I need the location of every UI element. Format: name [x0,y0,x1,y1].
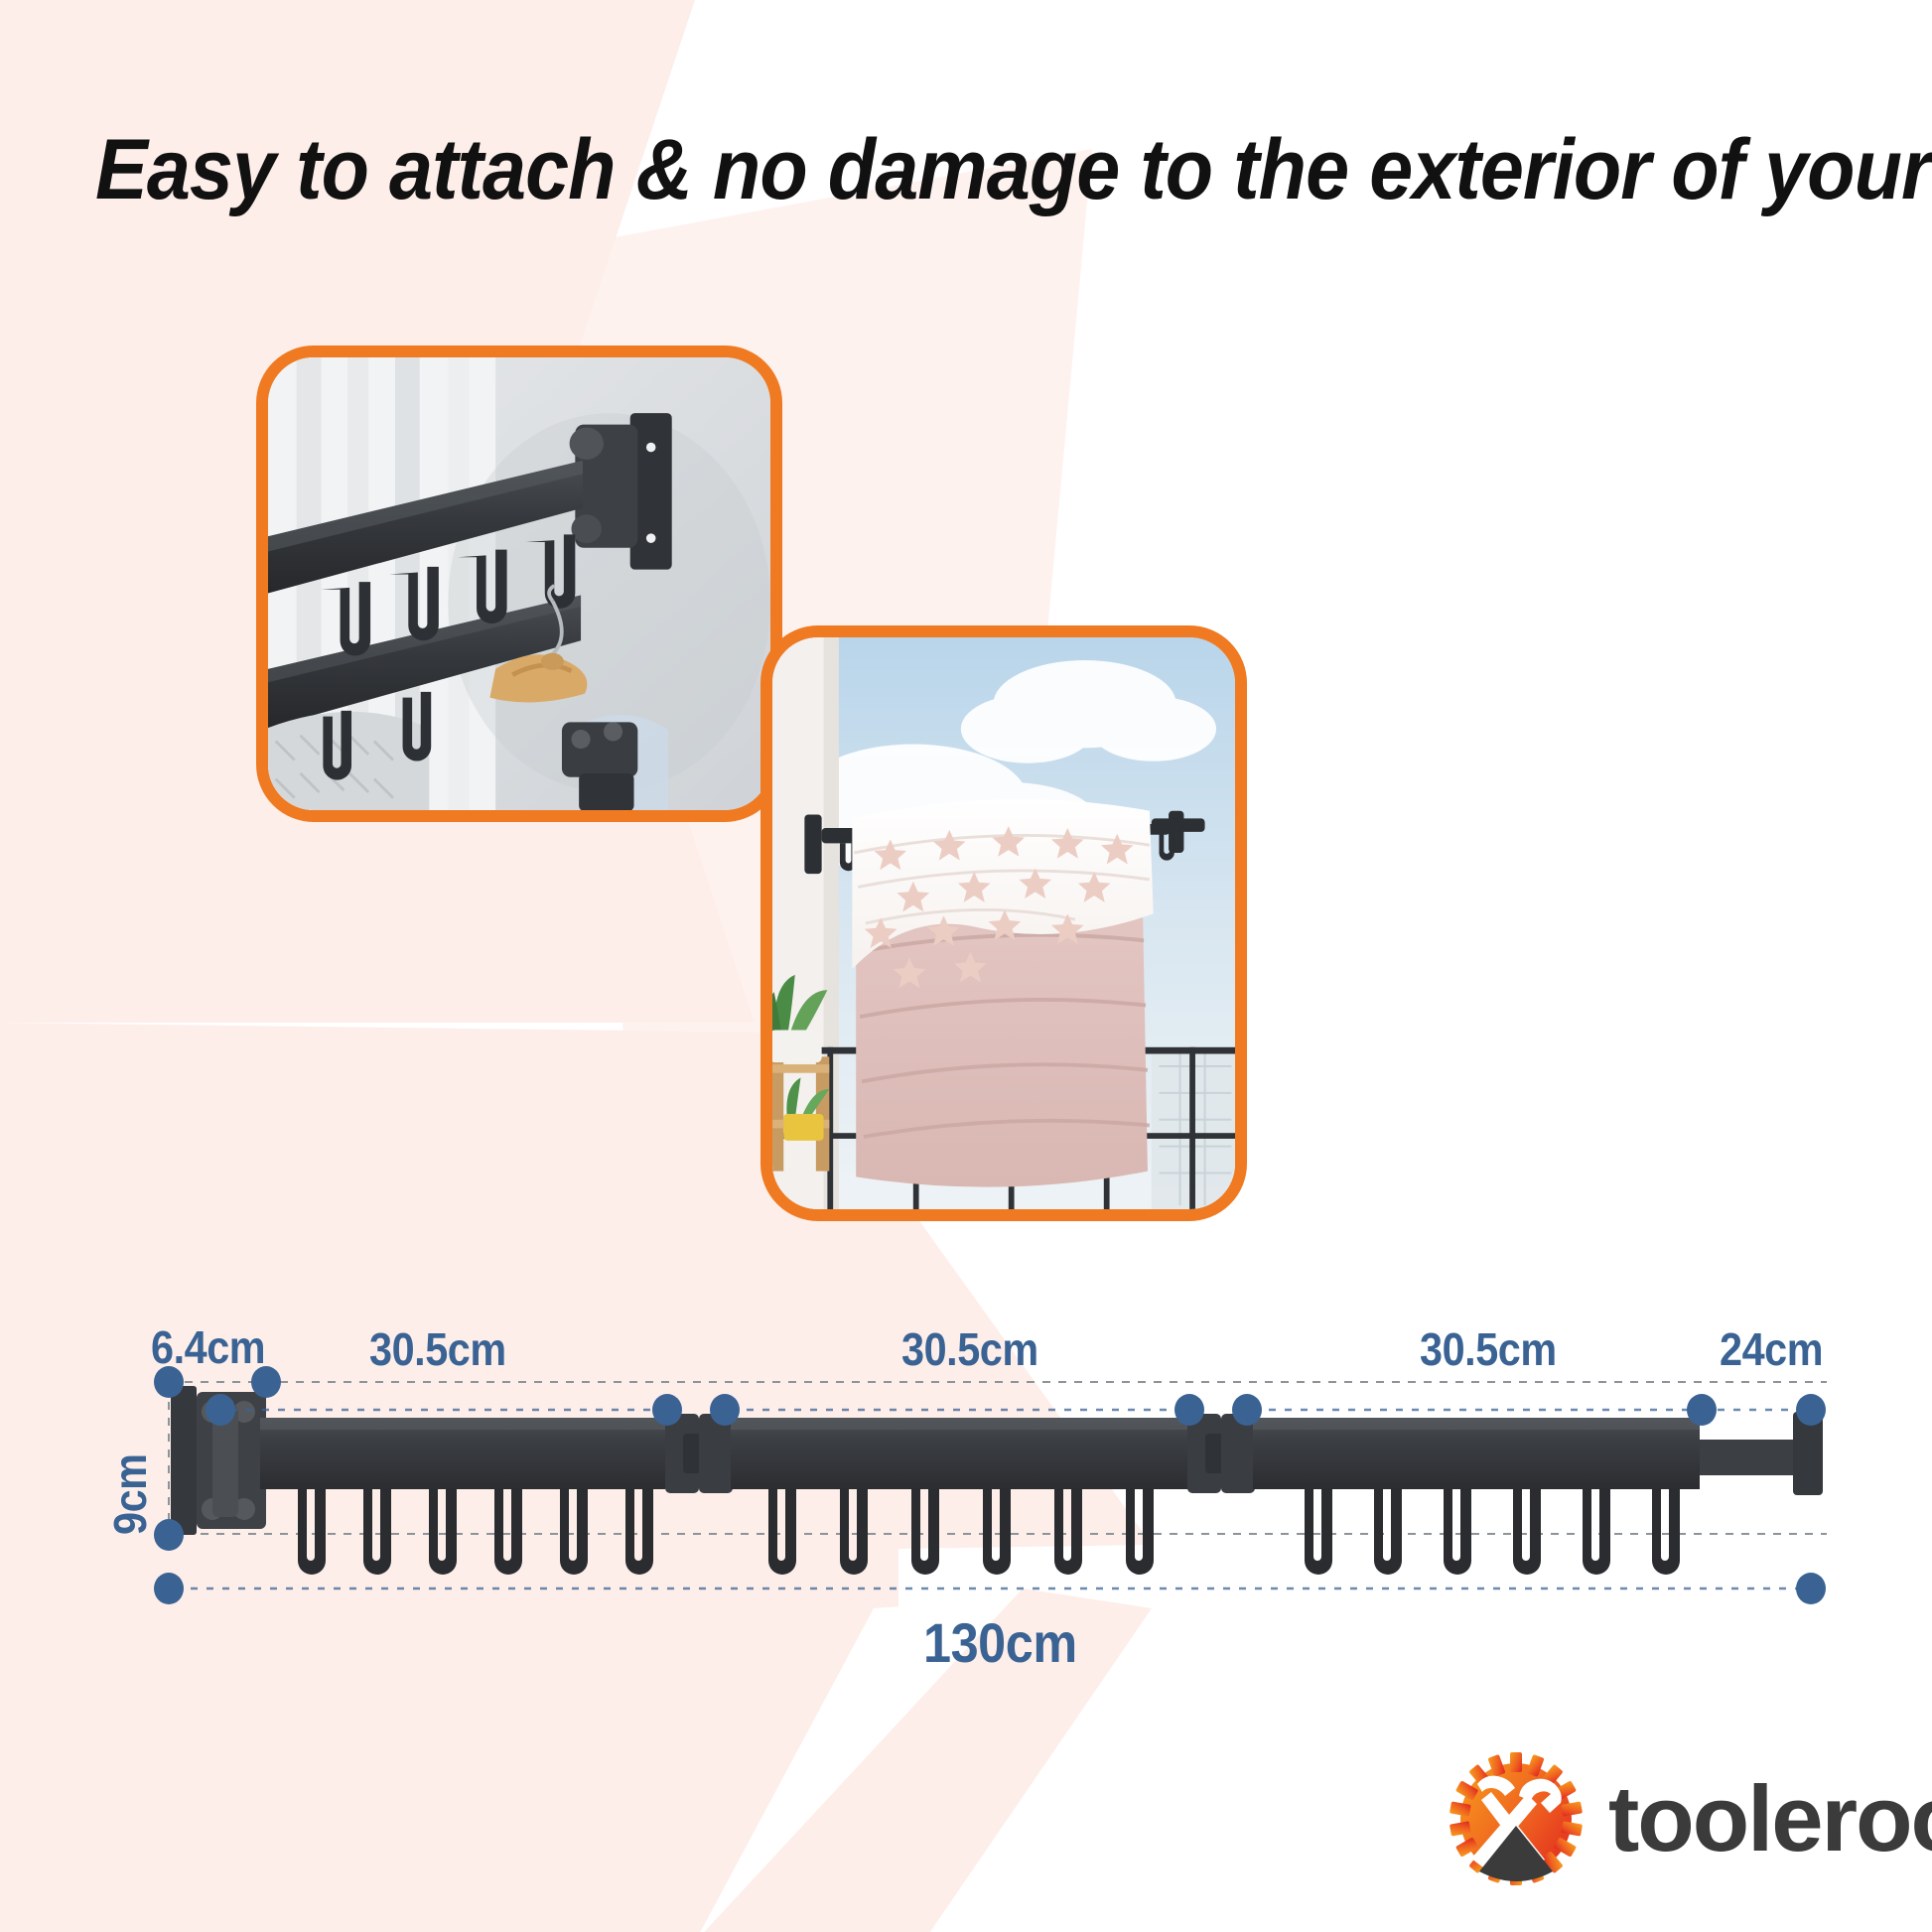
hinge-joint [665,1414,733,1493]
photo-balcony-illustration [772,637,1235,1209]
infographic-canvas: Easy to attach & no damage to the exteri… [0,0,1932,1932]
brand-logo: tooleroo [1442,1739,1859,1898]
dimension-diagram: 6.4cm 9cm 30.5cm 30.5cm 30.5cm 24cm 130c… [0,1301,1932,1718]
dimension-label-height: 9cm [103,1453,157,1535]
dimension-label-segment-3: 30.5cm [1420,1322,1557,1376]
dimension-label-total-width: 130cm [923,1610,1077,1675]
hook-group-segment-3 [1287,1489,1680,1575]
dimension-label-depth: 6.4cm [151,1320,265,1374]
logo-mark-svg [1442,1744,1590,1893]
hinge-joint [1187,1414,1255,1493]
photo-balcony-quilt-in-use [760,625,1247,1221]
hook-group-segment-1 [280,1489,653,1575]
dimension-label-segment-1: 30.5cm [369,1322,506,1376]
gear-hammer-wrench-icon [1442,1744,1590,1893]
photo-wall-mount-closeup [256,345,782,822]
dimension-label-segment-2: 30.5cm [901,1322,1038,1376]
page-title: Easy to attach & no damage to the exteri… [95,125,1703,214]
photo-wall-mount-illustration [268,357,770,810]
rack-illustration [171,1386,1823,1575]
logo-wordmark: tooleroo [1608,1772,1932,1865]
hook-group-segment-2 [751,1489,1154,1575]
dimension-label-extension: 24cm [1720,1322,1823,1376]
